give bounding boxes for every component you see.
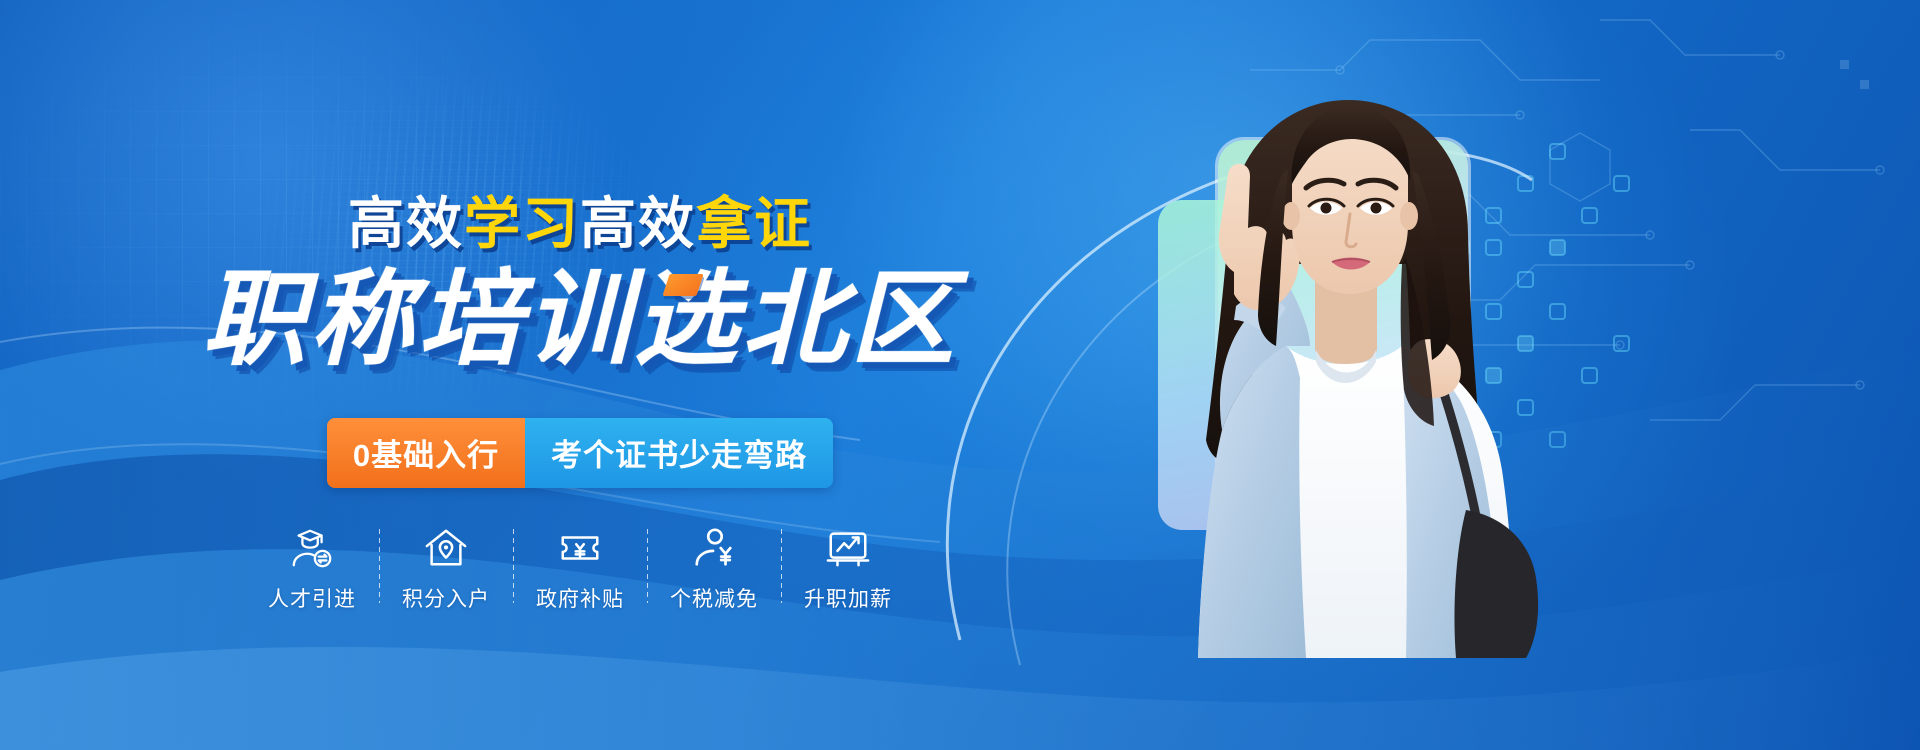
badge-primary: 0基础入行 (327, 418, 525, 488)
orange-accent-mark-icon (662, 274, 703, 296)
house-location-icon (423, 525, 469, 571)
graduate-talent-icon (289, 525, 335, 571)
feature-list: 人才引进 积分入户 (0, 525, 1160, 613)
promo-banner: 高效学习高效拿证 职称培训选北区 0基础入行 考个证书少走弯路 (0, 0, 1920, 750)
sub-headline-seg-1: 高效 (348, 192, 464, 255)
headline-text: 职称培训选北区 (202, 268, 958, 372)
feature-label: 个税减免 (670, 583, 758, 613)
sub-headline-seg-4: 拿证 (696, 192, 812, 255)
avatar (1110, 78, 1580, 658)
feature-item-talent[interactable]: 人才引进 (246, 525, 379, 613)
growth-chart-icon (825, 525, 871, 571)
feature-label: 升职加薪 (804, 583, 892, 613)
feature-label: 人才引进 (268, 583, 356, 613)
feature-label: 政府补贴 (536, 583, 624, 613)
person-yuan-icon (691, 525, 737, 571)
sub-headline-seg-3: 高效 (580, 192, 696, 255)
feature-item-tax[interactable]: 个税减免 (648, 525, 781, 613)
sub-headline-seg-2: 学习 (464, 192, 580, 255)
feature-item-promotion[interactable]: 升职加薪 (782, 525, 915, 613)
page-title: 职称培训选北区 (0, 268, 1160, 372)
feature-item-residence[interactable]: 积分入户 (380, 525, 513, 613)
hero-photo-composition (1050, 0, 1650, 750)
content-block: 高效学习高效拿证 职称培训选北区 0基础入行 考个证书少走弯路 (0, 0, 1080, 750)
feature-item-subsidy[interactable]: 政府补贴 (514, 525, 647, 613)
coupon-yuan-icon (557, 525, 603, 571)
badge-secondary: 考个证书少走弯路 (525, 418, 833, 488)
tagline-badge: 0基础入行 考个证书少走弯路 (0, 418, 1160, 488)
sub-headline: 高效学习高效拿证 (0, 196, 1160, 252)
feature-label: 积分入户 (402, 583, 490, 613)
